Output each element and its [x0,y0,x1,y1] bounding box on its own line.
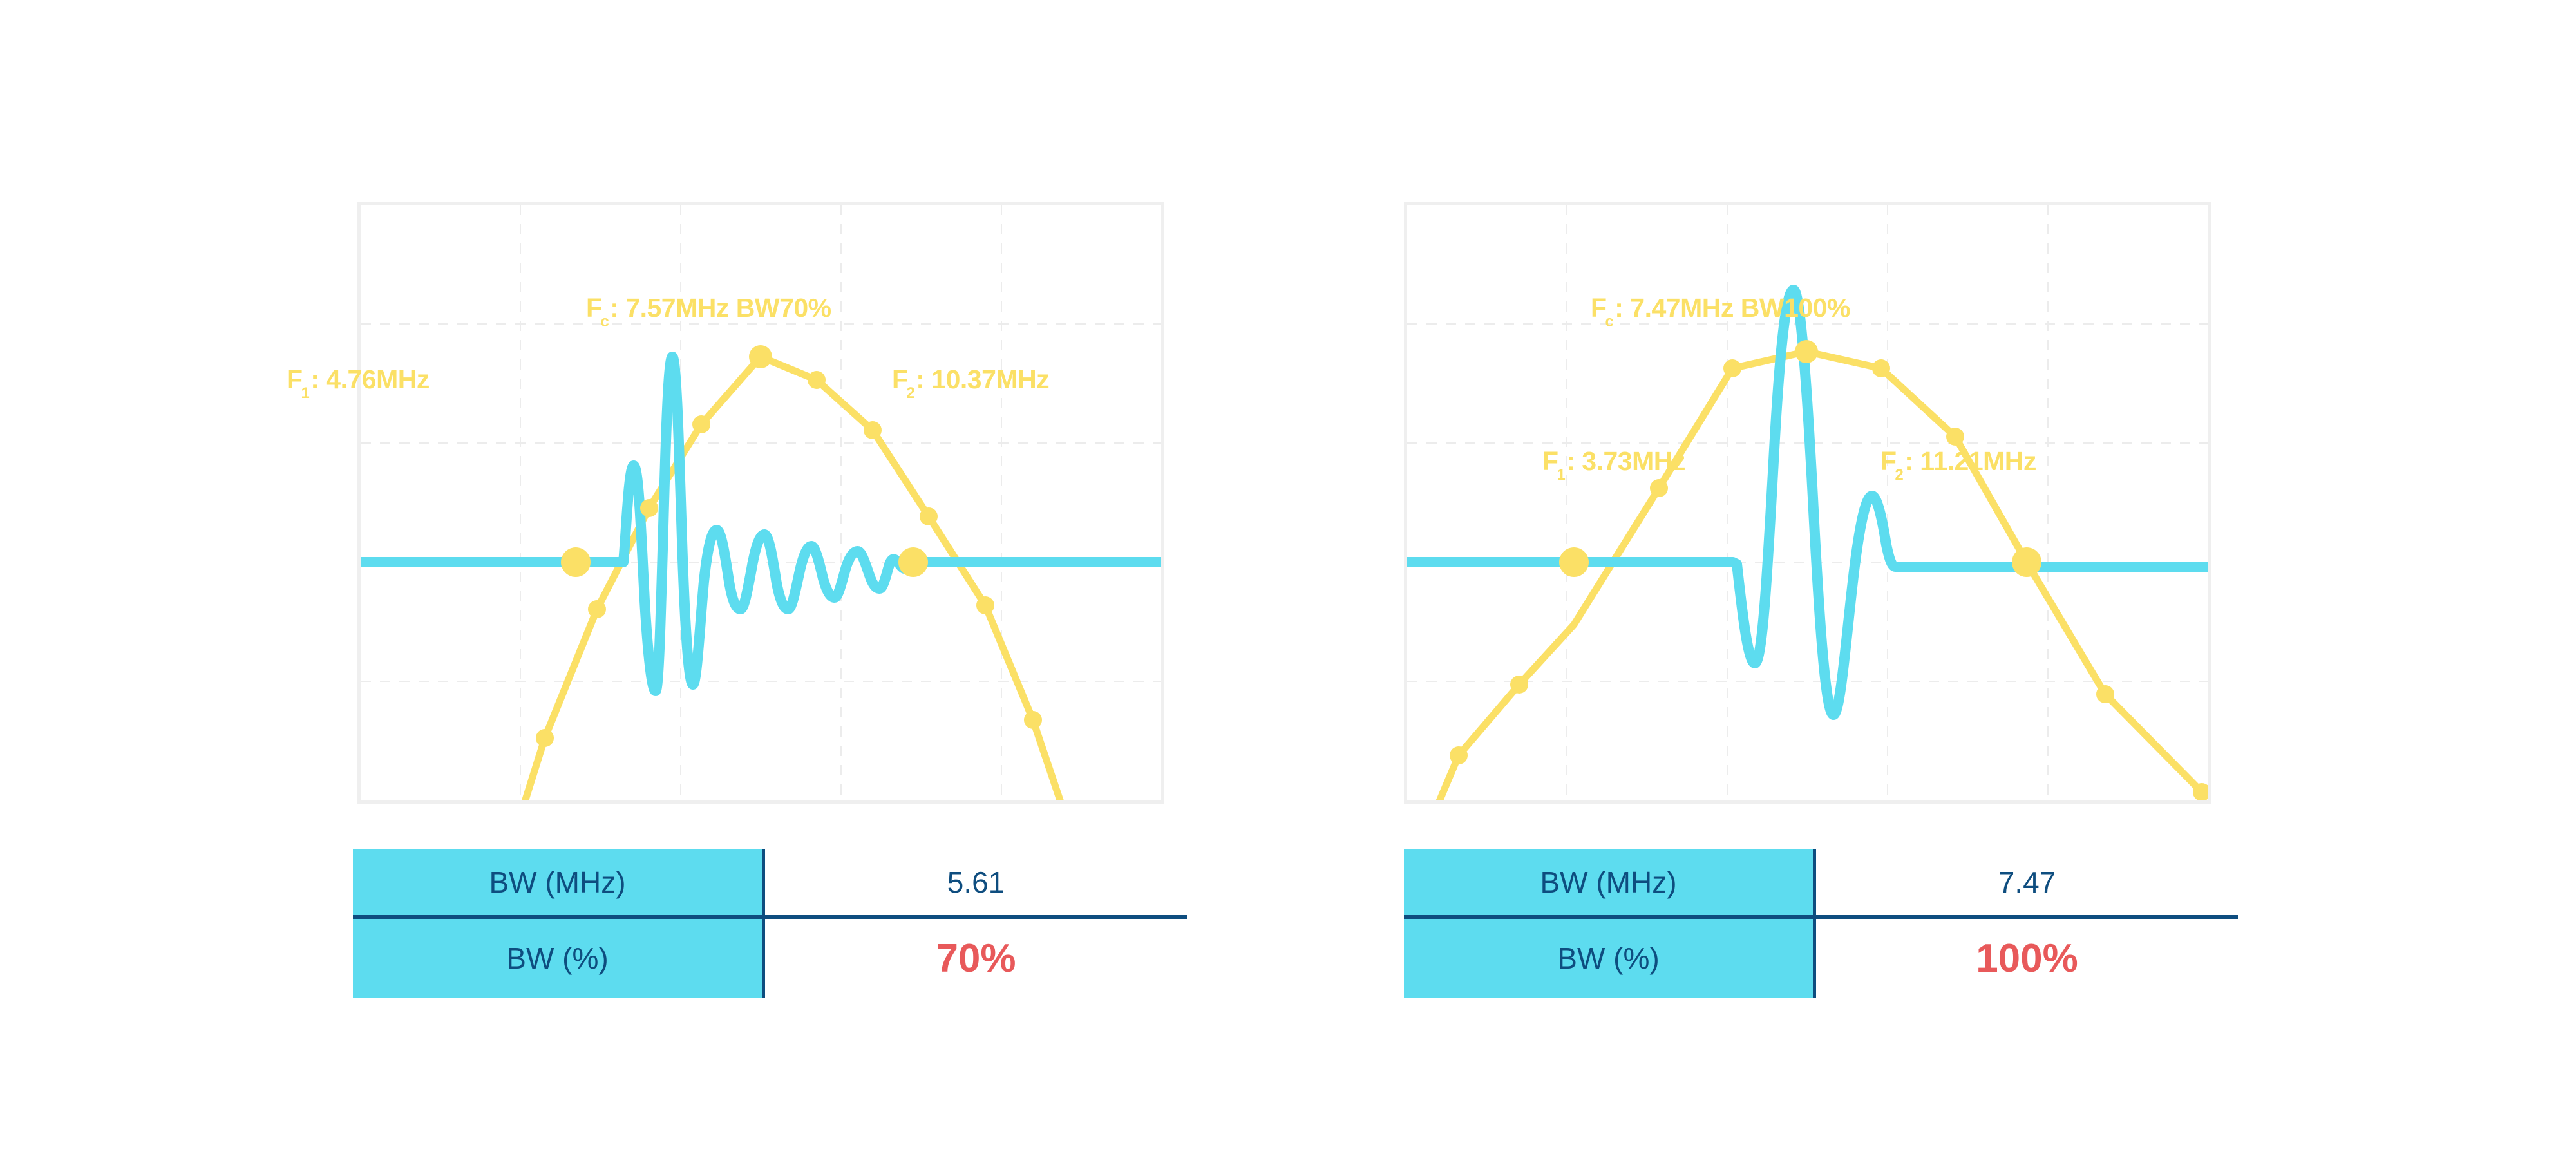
chart-panel-narrowband: Fc: 7.57MHz BW70% F1: 4.76MHz F2: 10.37M… [357,202,1164,804]
f1-prefix: F [287,364,303,394]
annotation-center-frequency: Fc: 7.57MHz BW70% [586,293,831,327]
annotation-upper-frequency: F2: 11.21MHz [1880,446,2036,480]
table-row: BW (MHz) 7.47 [1404,849,2238,915]
table-row-label: BW (MHz) [1404,849,1816,915]
fc-text: : 7.57MHz BW70% [610,293,831,323]
table-row-label: BW (MHz) [353,849,765,915]
bandwidth-table-narrowband: BW (MHz) 5.61 BW (%) 70% [353,849,1187,998]
f2-text: : 10.37MHz [916,364,1049,394]
f1-text: : 4.76MHz [310,364,430,394]
f1-marker [1559,547,1589,577]
table-row: BW (%) 100% [1404,919,2238,998]
f2-marker [898,547,928,577]
table-row-value: 5.61 [765,849,1187,915]
annotation-lower-frequency: F1: 3.73MHz [1542,446,1685,480]
annotation-upper-frequency: F2: 10.37MHz [892,364,1049,399]
table-row-value: 7.47 [1816,849,2238,915]
plot-area-broadband [1404,202,2211,804]
table-divider [353,915,1187,919]
f1-subscript: 1 [1557,466,1566,484]
f2-subscript: 2 [1895,466,1904,484]
table-row: BW (%) 70% [353,919,1187,998]
table-row-label: BW (%) [353,919,765,998]
fc-prefix: F [1591,293,1607,323]
f2-prefix: F [892,364,908,394]
table-divider [1404,915,2238,919]
annotation-lower-frequency: F1: 4.76MHz [287,364,430,399]
bandwidth-table-broadband: BW (MHz) 7.47 BW (%) 100% [1404,849,2238,998]
figure-root: Fc: 7.57MHz BW70% F1: 4.76MHz F2: 10.37M… [0,0,2576,1154]
plot-area-narrowband [357,202,1164,804]
fc-subscript: c [601,313,609,330]
f2-marker [2012,547,2041,577]
table-row-value: 100% [1816,919,2238,998]
fc-prefix: F [586,293,602,323]
fc-text: : 7.47MHz BW100% [1615,293,1850,323]
fc-subscript: c [1605,313,1614,330]
table-row-value: 70% [765,919,1187,998]
pulse-waveform [361,357,1161,691]
f1-marker [561,547,591,577]
annotation-center-frequency: Fc: 7.47MHz BW100% [1591,293,1850,327]
chart-panel-broadband: Fc: 7.47MHz BW100% F1: 3.73MHz F2: 11.21… [1404,202,2211,804]
f2-subscript: 2 [907,384,915,402]
table-row-label: BW (%) [1404,919,1816,998]
f1-text: : 3.73MHz [1566,446,1685,476]
f2-text: : 11.21MHz [1904,446,2036,476]
f2-prefix: F [1880,446,1897,476]
f1-subscript: 1 [301,384,310,402]
table-row: BW (MHz) 5.61 [353,849,1187,915]
spectrum-data-points [536,345,1042,747]
f1-prefix: F [1542,446,1558,476]
